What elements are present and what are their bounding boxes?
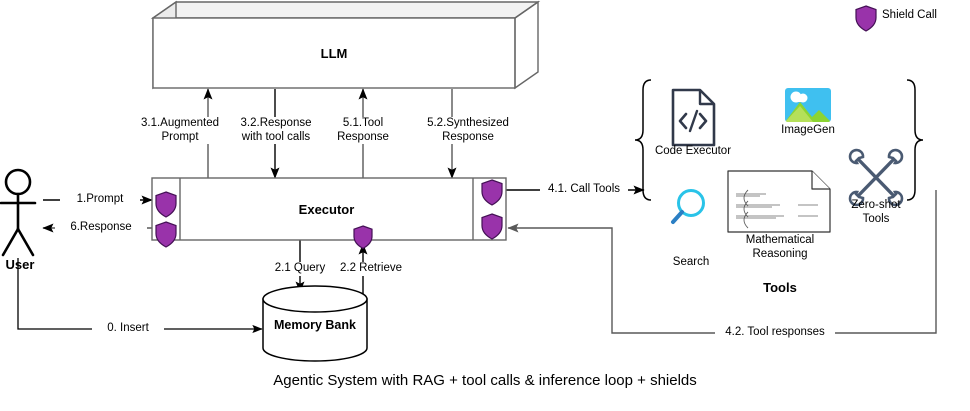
tools-group-braces — [635, 80, 923, 200]
edge-label-augmented-prompt: 3.1.Augmented Prompt — [140, 117, 220, 144]
math-document-icon — [728, 171, 830, 232]
legend-shield-label: Shield Call — [882, 9, 970, 23]
executor-label: Executor — [180, 178, 473, 240]
shield-tools-bottom — [482, 214, 502, 239]
diagram-caption: Agentic System with RAG + tool calls & i… — [0, 374, 970, 388]
tool-label-search: Search — [659, 256, 723, 270]
tool-label-imagegen: ImageGen — [768, 124, 848, 138]
llm-label: LLM — [153, 18, 515, 88]
edge-label-response: 6.Response — [55, 221, 147, 235]
memory-bank-label: Memory Bank — [263, 302, 367, 348]
shield-legend-icon — [856, 6, 876, 31]
user-label: User — [0, 258, 40, 272]
edge-label-call-tools: 4.1. Call Tools — [540, 183, 628, 197]
magnifier-icon — [673, 191, 704, 223]
edge-label-tool-response: 5.1.Tool Response — [327, 117, 399, 144]
code-document-icon — [673, 90, 714, 145]
edge-label-insert: 0. Insert — [92, 322, 164, 336]
edge-label-tool-responses: 4.2. Tool responses — [715, 326, 835, 340]
edge-label-response-tools: 3.2.Response with tool calls — [232, 117, 320, 144]
tool-label-zero-shot-tools: Zero-shot Tools — [838, 199, 914, 226]
shield-tools-top — [482, 180, 502, 205]
crossed-wrenches-icon — [850, 150, 902, 205]
edge-label-synth-response: 5.2.Synthesized Response — [422, 117, 514, 144]
tool-label-code-executor: Code Executor — [645, 145, 741, 159]
tools-group-label: Tools — [745, 281, 815, 295]
tool-label-mathematical-reasoning: Mathematical Reasoning — [734, 234, 826, 261]
edge-label-retrieve: 2.2 Retrieve — [330, 262, 412, 276]
image-picture-icon — [785, 88, 831, 122]
node-user[interactable] — [1, 170, 35, 255]
edge-label-prompt: 1.Prompt — [60, 193, 140, 207]
shield-input-top — [156, 192, 176, 217]
edge-insert — [18, 258, 262, 329]
shield-input-bottom — [156, 222, 176, 247]
edge-label-query: 2.1 Query — [265, 262, 335, 276]
